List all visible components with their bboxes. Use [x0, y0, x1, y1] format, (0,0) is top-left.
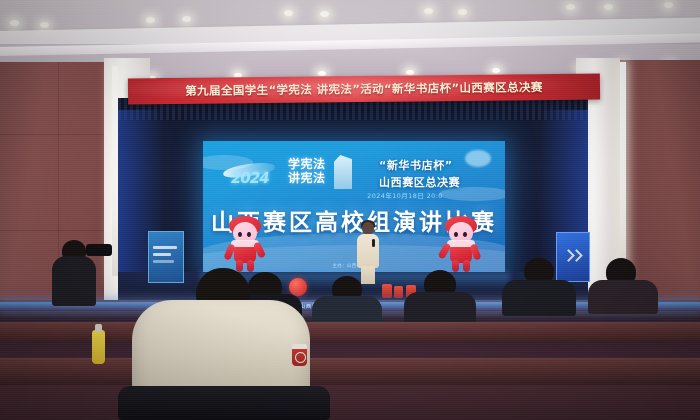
- audience-shoulders: [588, 280, 658, 314]
- wall-seam: [0, 134, 118, 135]
- mascot-eye: [238, 232, 242, 237]
- mascot-leg: [236, 260, 243, 272]
- screen-subtitle: 山西赛区总决赛: [379, 174, 505, 190]
- mascot-eye: [454, 232, 458, 237]
- mascot-eye: [463, 232, 467, 237]
- red-stage-prop: [382, 284, 392, 298]
- audience-desk-row-2: [0, 322, 700, 343]
- cup-logo-icon: [295, 352, 306, 363]
- light-strip-right: [620, 62, 626, 282]
- chair-back: [118, 386, 330, 420]
- mascot-leg: [247, 260, 254, 272]
- screen-cup-line: “新华书店杯”: [379, 157, 505, 173]
- audience-shoulders: [312, 296, 382, 324]
- water-bottle: [92, 330, 105, 364]
- photographer-body: [52, 256, 96, 306]
- red-decoration-circle: [289, 278, 307, 296]
- speaker-legs: [361, 266, 375, 284]
- camera-icon: [86, 244, 112, 256]
- logo-year: 2024: [231, 169, 269, 187]
- mascot-leg: [463, 260, 470, 272]
- standee-line: [153, 246, 177, 249]
- chevron-icon: [570, 249, 583, 262]
- ceiling-light: [566, 4, 575, 10]
- led-screen: 2024 学宪法 讲宪法 “新华书店杯” 山西赛区总决赛 2024年10月18日…: [203, 141, 505, 272]
- bottle-cap: [95, 324, 102, 332]
- speaker-body: [357, 234, 379, 268]
- banner-highlight: [128, 74, 600, 105]
- ceiling-light: [182, 16, 191, 22]
- ceiling-light: [40, 22, 49, 28]
- wall-seam: [0, 230, 118, 231]
- ceiling-light: [318, 71, 326, 76]
- mascot-leg: [452, 260, 459, 272]
- event-banner: 第九届全国学生“学宪法 讲宪法”活动“新华书店杯”山西赛区总决赛: [128, 74, 600, 105]
- ceiling-light: [664, 2, 673, 8]
- audience-desk-row-3: [0, 358, 700, 385]
- audience-shoulders: [404, 292, 476, 324]
- blue-standee-right: [556, 232, 590, 282]
- standee-line: [153, 260, 174, 263]
- mascot-eye: [247, 232, 251, 237]
- audience-shoulders: [502, 280, 576, 316]
- speaker-on-stage: [356, 222, 380, 284]
- ceiling-light: [146, 17, 155, 23]
- ceiling-light: [406, 70, 414, 75]
- mascot-left: [225, 218, 265, 270]
- book-icon: [334, 155, 352, 189]
- ceiling-light: [492, 68, 500, 73]
- blue-standee-left: [148, 231, 184, 283]
- ceiling-light: [424, 8, 433, 14]
- photo-scene: 第九届全国学生“学宪法 讲宪法”活动“新华书店杯”山西赛区总决赛 2024 学宪…: [0, 0, 700, 420]
- standee-line: [153, 253, 171, 256]
- ceiling-light: [604, 4, 613, 10]
- mascot-right: [441, 218, 481, 270]
- ceiling-light: [284, 10, 293, 16]
- microphone-icon: [372, 239, 375, 247]
- red-stage-prop: [394, 286, 403, 298]
- ceiling-light: [458, 9, 467, 15]
- screen-date-line: 2024年10月18日 20:0: [315, 190, 495, 200]
- ceiling-light: [320, 11, 329, 17]
- ceiling-light: [10, 20, 19, 26]
